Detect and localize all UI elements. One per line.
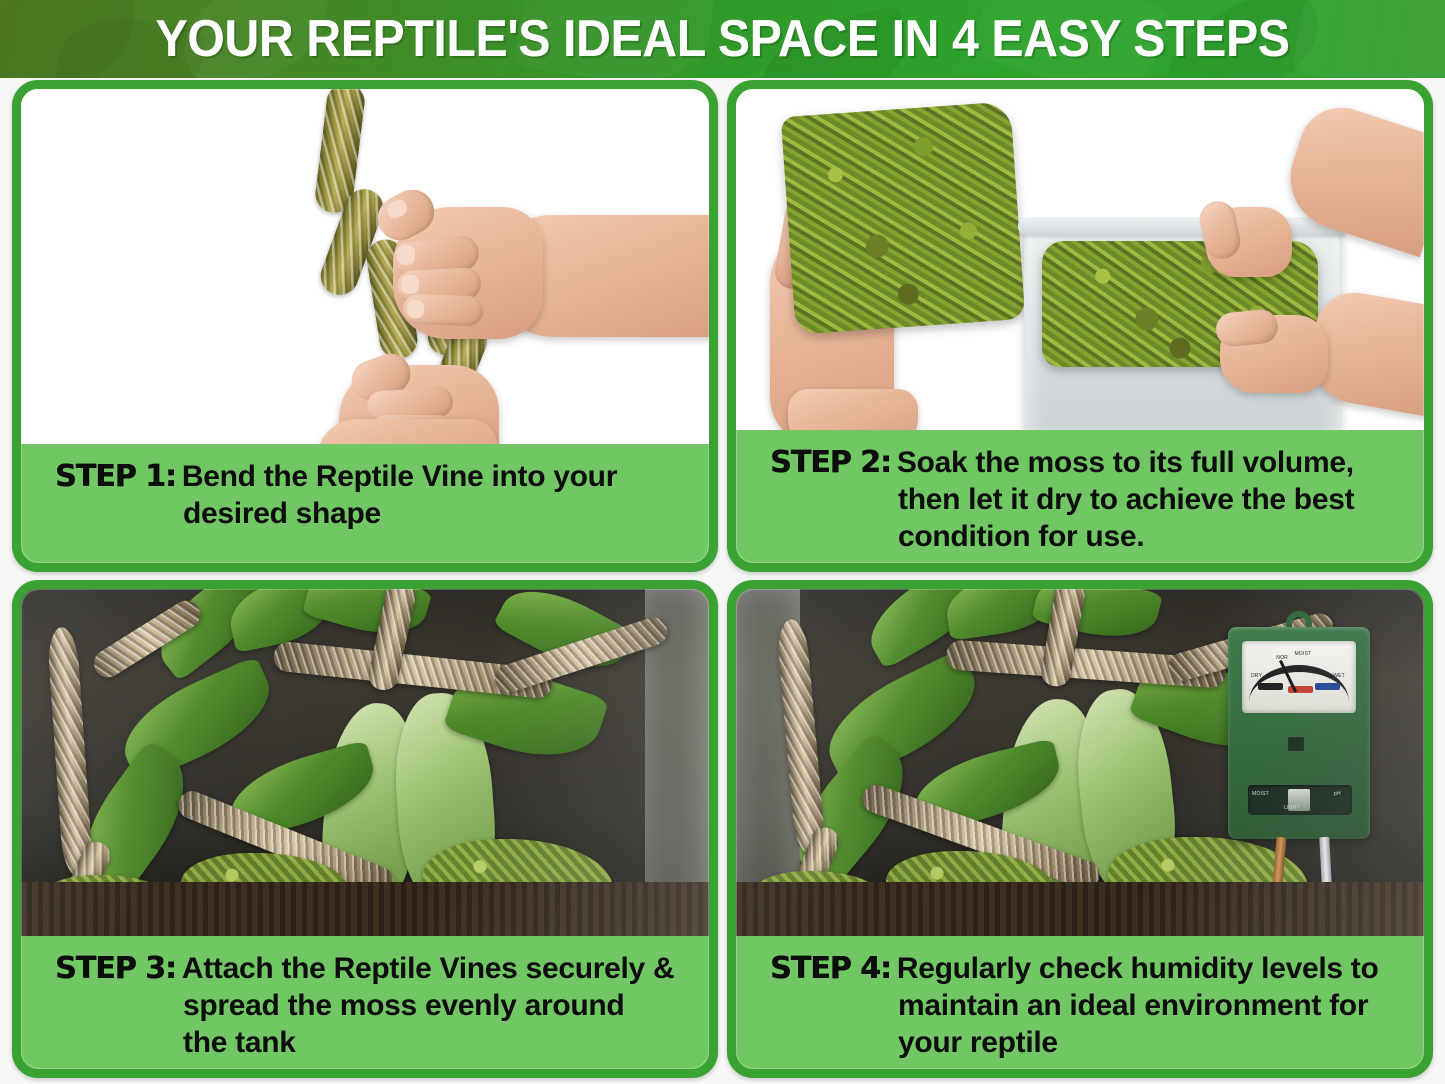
step-1-text: Bend the Reptile Vine into your desired … [182, 460, 617, 530]
step-3-label: STEP 3: [55, 951, 176, 986]
step-3-caption: STEP 3:Attach the Reptile Vines securely… [21, 936, 709, 1069]
step-4-text: Regularly check humidity levels to maint… [897, 952, 1379, 1059]
step-1-caption: STEP 1:Bend the Reptile Vine into your d… [21, 444, 709, 563]
step-3-photo [21, 589, 709, 936]
step-panel-2: STEP 2:Soak the moss to its full volume,… [727, 80, 1433, 572]
steps-grid: STEP 1:Bend the Reptile Vine into your d… [12, 80, 1433, 1078]
step-2-text: Soak the moss to its full volume, then l… [897, 446, 1354, 553]
step-1-photo [21, 89, 709, 444]
step-1-label: STEP 1: [55, 459, 176, 494]
dry-moss-block [781, 101, 1026, 335]
step-2-caption: STEP 2:Soak the moss to its full volume,… [736, 430, 1424, 563]
dial-label-nor: NOR [1276, 655, 1288, 661]
dial-label-moist: MOIST [1294, 651, 1311, 657]
step-2-photo [736, 89, 1424, 430]
dial-label-wet: WET [1333, 673, 1345, 679]
dial-label-dry: DRY [1251, 673, 1262, 679]
switch-label-light: LIGHT [1284, 805, 1300, 811]
meter-dial: DRY NOR MOIST WET [1242, 641, 1356, 713]
step-3-text: Attach the Reptile Vines securely & spre… [182, 952, 674, 1059]
step-4-label: STEP 4: [770, 951, 891, 986]
step-2-label: STEP 2: [770, 445, 891, 480]
header-banner: YOUR REPTILE'S IDEAL SPACE IN 4 EASY STE… [0, 0, 1445, 78]
step-4-caption: STEP 4:Regularly check humidity levels t… [736, 936, 1424, 1069]
page-title: YOUR REPTILE'S IDEAL SPACE IN 4 EASY STE… [51, 3, 1395, 75]
step-panel-4: DRY NOR MOIST WET MOIST LIGHT pH [727, 580, 1433, 1078]
step-panel-3: STEP 3:Attach the Reptile Vines securely… [12, 580, 718, 1078]
switch-label-moist: MOIST [1252, 791, 1269, 797]
infographic-poster: YOUR REPTILE'S IDEAL SPACE IN 4 EASY STE… [0, 0, 1445, 1084]
step-4-photo: DRY NOR MOIST WET MOIST LIGHT pH [736, 589, 1424, 936]
step-panel-1: STEP 1:Bend the Reptile Vine into your d… [12, 80, 718, 572]
switch-label-ph: pH [1334, 791, 1341, 797]
